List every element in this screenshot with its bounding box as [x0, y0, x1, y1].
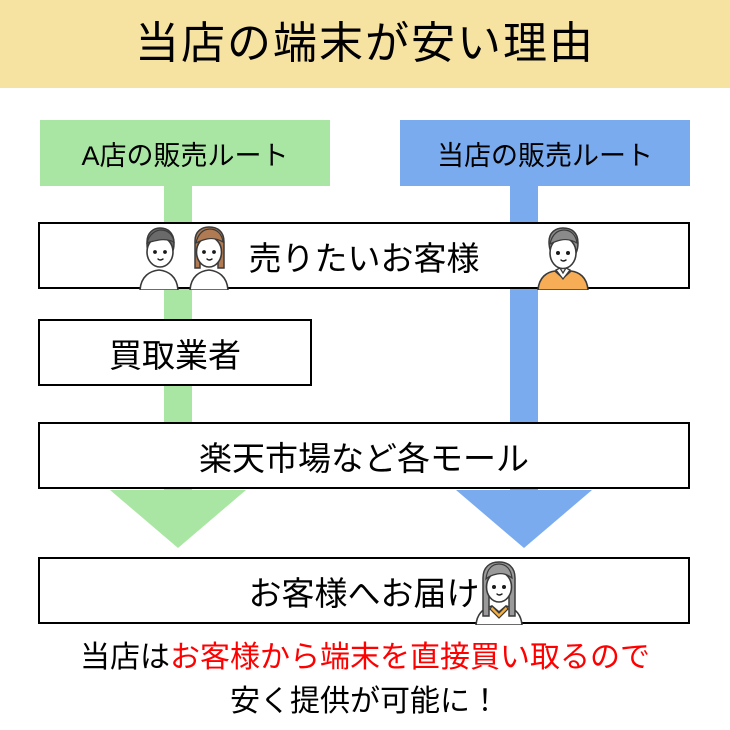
flow-box-dealer-label: 買取業者 — [109, 329, 241, 377]
flow-box-delivery-label: お客様へお届け — [249, 567, 480, 615]
caption-highlight: お客様から端末を直接買い取るので — [170, 641, 650, 674]
flow-box-delivery-inner: お客様へお届け — [40, 559, 688, 622]
two-people-icon — [132, 226, 237, 290]
bottom-caption: 当店はお客様から端末を直接買い取るので 安く提供が可能に！ — [0, 636, 730, 724]
caption-line-1: 当店はお客様から端末を直接買い取るので — [0, 636, 730, 680]
arrow-down-our-store-icon — [456, 490, 592, 548]
route-label-our-store: 当店の販売ルート — [400, 120, 690, 186]
flow-box-customers: 売りたいお客様 — [38, 222, 690, 289]
title-banner: 当店の端末が安い理由 — [0, 0, 730, 88]
route-label-our-store-text: 当店の販売ルート — [437, 134, 653, 173]
infographic-canvas: 当店の端末が安い理由 A店の販売ルート 当店の販売ルート — [0, 0, 730, 730]
flow-box-mall: 楽天市場など各モール — [38, 422, 690, 489]
caption-line-2: 安く提供が可能に！ — [0, 680, 730, 724]
woman-long-hair-icon — [468, 561, 530, 625]
route-label-a-store: A店の販売ルート — [40, 120, 330, 186]
flow-box-dealer: 買取業者 — [38, 319, 312, 386]
caption-prefix: 当店は — [80, 641, 170, 674]
man-orange-sweater-icon — [532, 226, 594, 290]
arrow-down-a-store-icon — [110, 490, 246, 548]
flow-box-mall-label: 楽天市場など各モール — [199, 432, 529, 480]
route-label-a-store-text: A店の販売ルート — [81, 134, 288, 173]
flow-box-delivery: お客様へお届け — [38, 557, 690, 624]
page-title: 当店の端末が安い理由 — [135, 22, 595, 66]
flow-box-customers-label: 売りたいお客様 — [249, 232, 480, 280]
flow-box-customers-inner: 売りたいお客様 — [40, 224, 688, 287]
